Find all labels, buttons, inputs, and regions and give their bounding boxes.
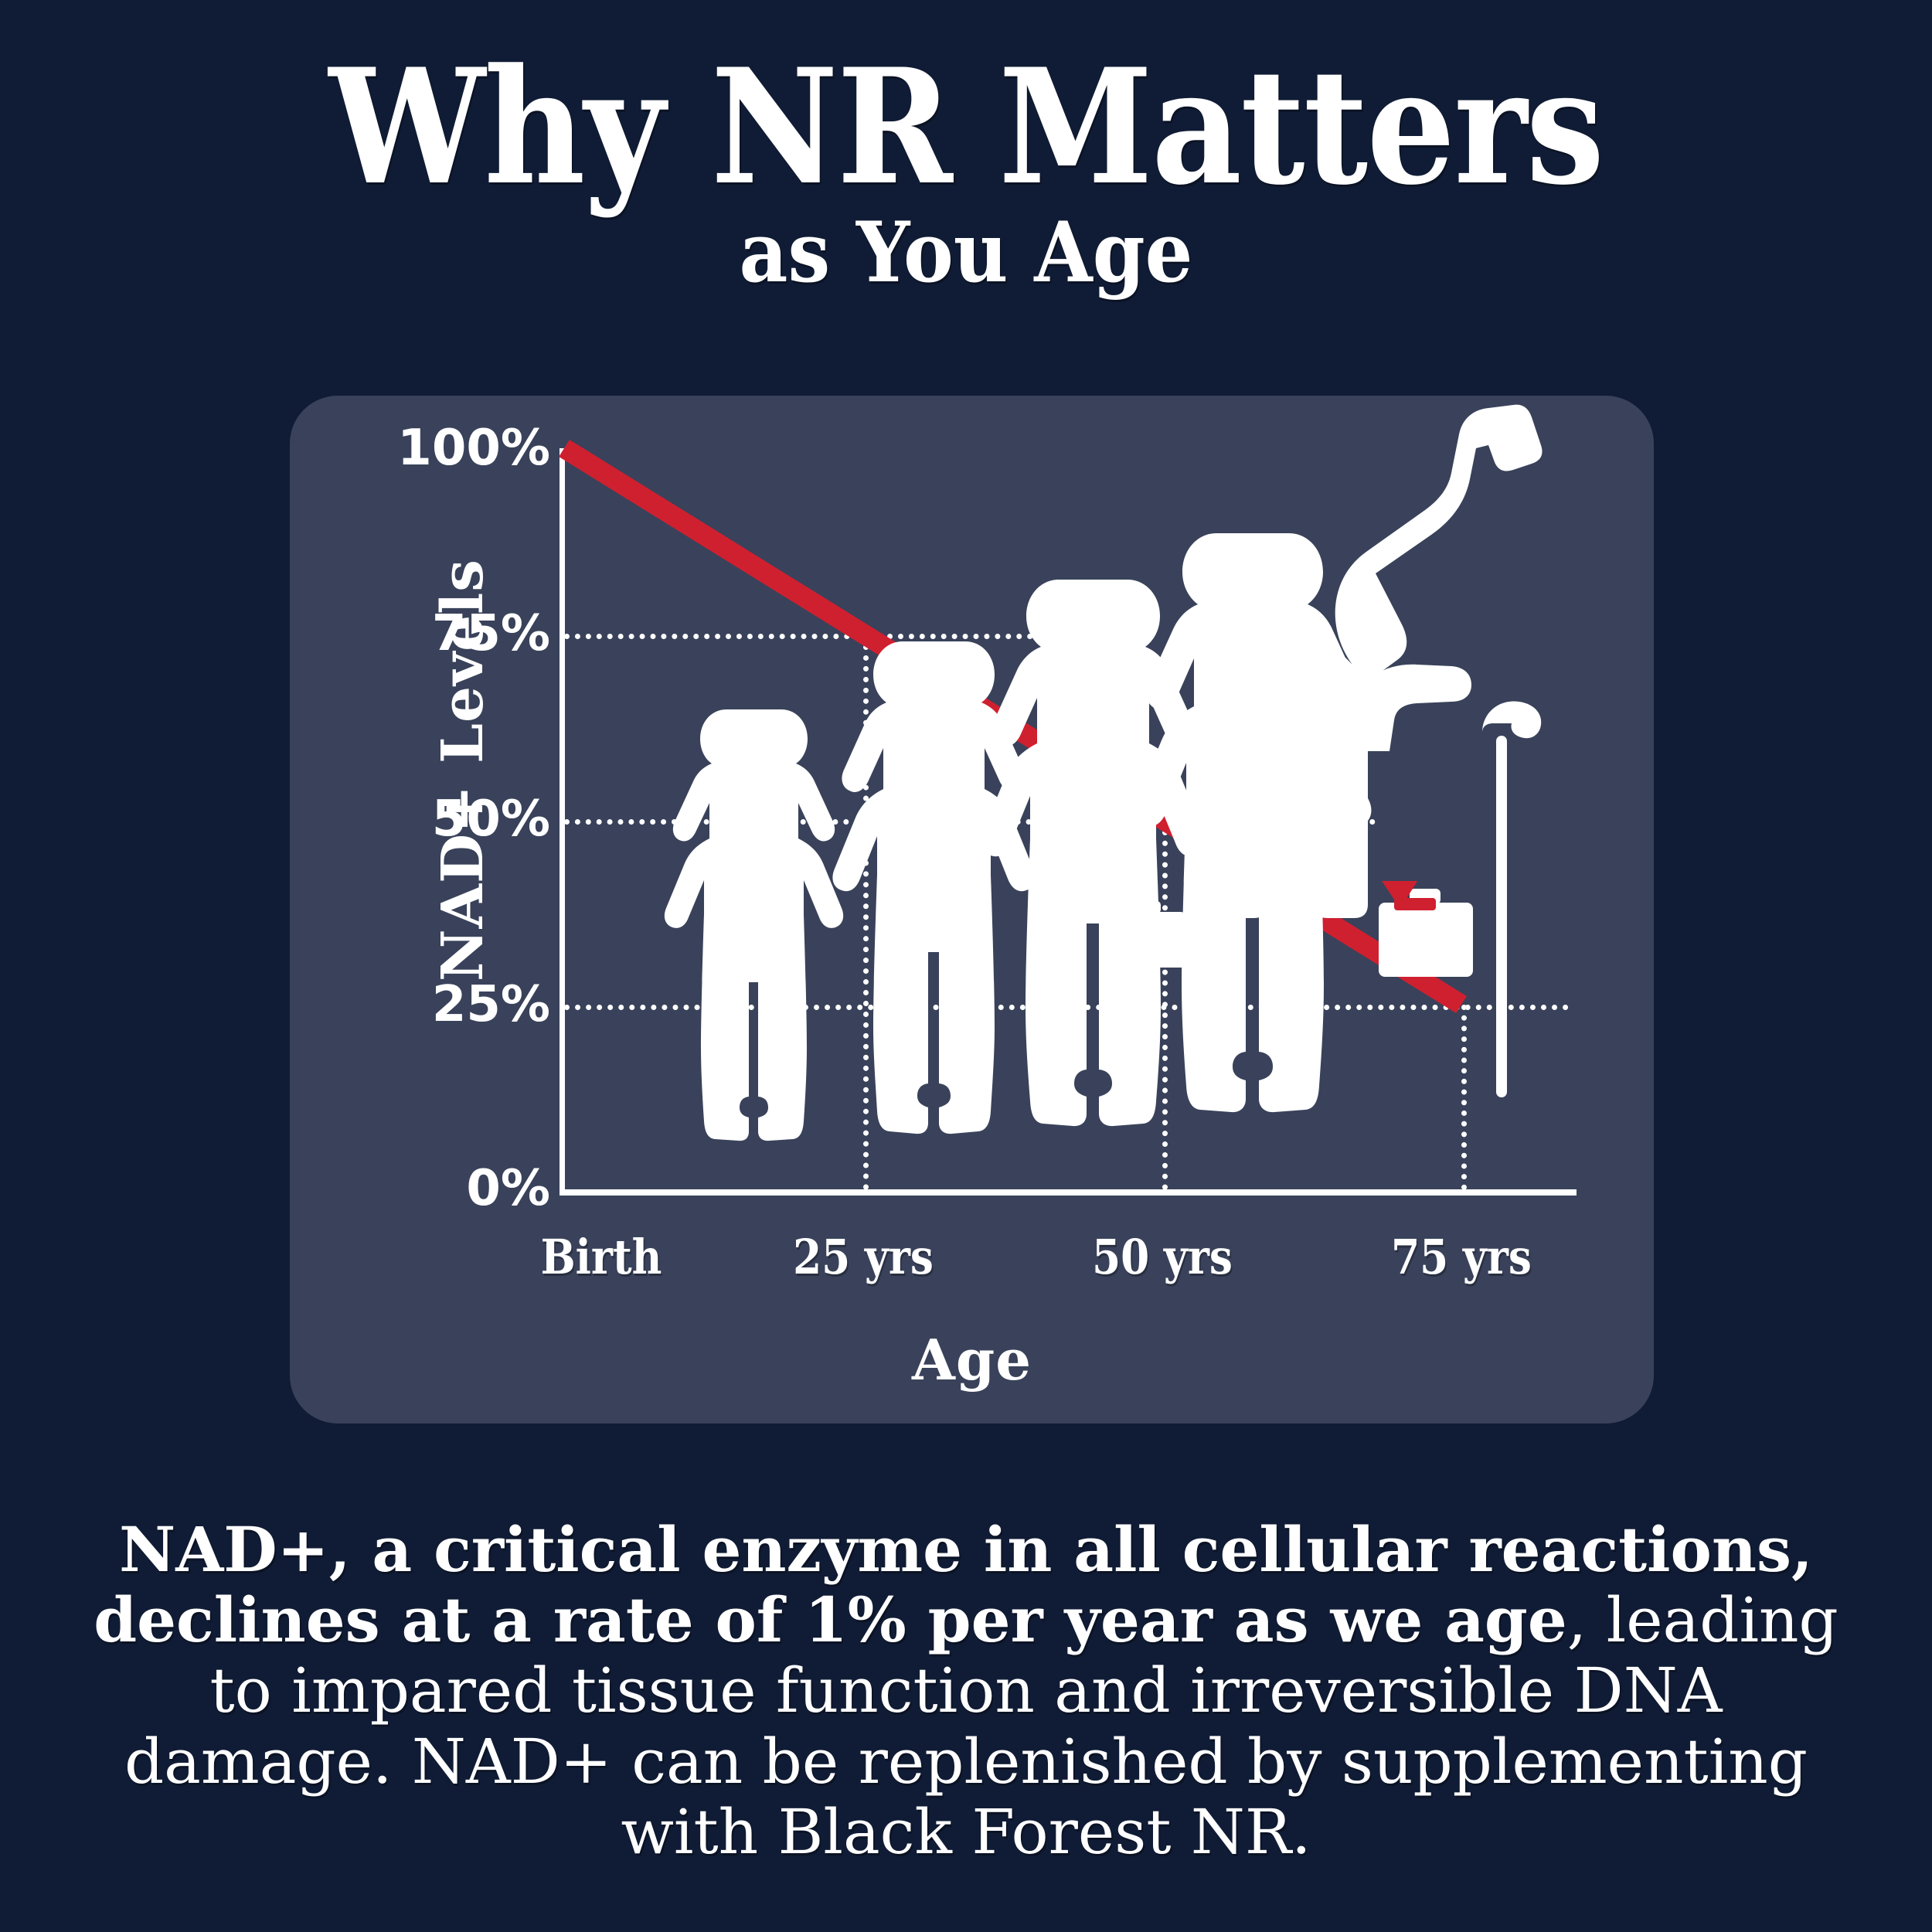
x-tick-50yrs: 50 yrs [1049,1229,1275,1285]
title-block: Why NR Matters as You Age [0,54,1932,297]
age-silhouettes-group [564,448,1569,1190]
body-lead-text: NAD+, a critical enzyme in all cellular … [94,1513,1813,1656]
y-tick-0: 0% [295,1160,550,1217]
briefcase [1114,912,1185,968]
page-subtitle: as You Age [97,209,1835,297]
chart-x-axis-title: Age [290,1327,1654,1393]
body-paragraph: NAD+, a critical enzyme in all cellular … [70,1515,1862,1867]
silhouette-child [665,709,843,1141]
y-tick-75: 75% [295,605,550,662]
elderly-briefcase [1379,903,1473,977]
chart-panel: NAD+ Levels Age 100% 75% 50% 25% 0% Birt… [290,396,1654,1423]
infographic-canvas: Why NR Matters as You Age NAD+ Levels Ag… [0,0,1932,1932]
y-tick-25: 25% [295,976,550,1033]
x-tick-birth: Birth [488,1229,714,1285]
chart-plot-area: 100% 75% 50% 25% 0% Birth 25 yrs 50 yrs … [564,448,1569,1190]
page-title: Why NR Matters [116,54,1816,202]
chart-x-axis-line [560,1189,1577,1196]
cane [1496,736,1507,1097]
x-tick-75yrs: 75 yrs [1349,1229,1574,1285]
y-tick-100: 100% [295,420,550,477]
y-tick-50: 50% [295,791,550,848]
x-tick-25yrs: 25 yrs [750,1229,976,1285]
